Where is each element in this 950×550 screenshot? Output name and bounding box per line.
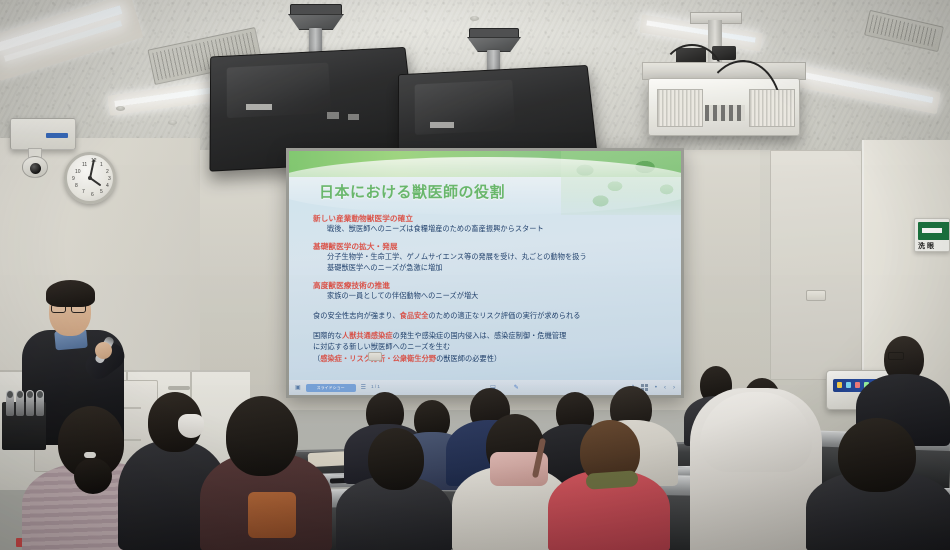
slide-paragraph: に対応する新しい獣医師へのニーズを生む — [313, 342, 673, 353]
slide-text-run: の発生や感染症の国内侵入は、感染症制御・危機管理 — [393, 331, 567, 340]
clock-center-pin — [88, 176, 92, 180]
monitor-label — [246, 104, 272, 110]
sprinkler-head — [168, 120, 177, 125]
slide-title: 日本における獣医師の役割 — [319, 181, 649, 202]
slide-text-run: 食の安全性志向が強まり、 — [313, 311, 400, 320]
page-indicator: 1 / 1 — [371, 385, 380, 390]
projection-screen: 日本における獣医師の役割 新しい産業動物獣医学の確立 戦後、獣医師へのニーズは食… — [286, 148, 684, 398]
slide-text-run: に対応する新しい獣医師へのニーズを生む — [313, 342, 450, 351]
camera-stripe — [46, 133, 68, 138]
wall-clock: 12 1 2 3 4 5 6 7 8 9 10 11 — [64, 152, 116, 204]
more-icon[interactable]: • — [655, 385, 657, 391]
microphone — [16, 390, 24, 416]
slide-section-line: 家族の一員としての伴侶動物へのニーズが増大 — [327, 291, 673, 301]
sign-label: 洗眼 — [918, 241, 936, 251]
slide-text-run: の獣医師の必要性） — [436, 354, 501, 363]
microphone — [36, 390, 44, 416]
presenter-hand — [95, 342, 112, 359]
handbag — [248, 492, 296, 538]
slide-highlight-run: 人獣共通感染症 — [342, 331, 393, 340]
hair-bun — [74, 458, 112, 494]
slide-paragraph: 国際的な人獣共通感染症の発生や感染症の国内侵入は、感染症制御・危機管理 — [313, 331, 673, 342]
sign-pictogram — [922, 228, 942, 233]
menu-icon[interactable]: ☰ — [361, 385, 366, 391]
sprinkler-head — [116, 106, 125, 111]
slide-section-heading: 基礎獣医学の拡大・発展 — [313, 241, 673, 252]
audience-head — [838, 418, 916, 492]
slide-section-line: 戦後、獣医師へのニーズは食糧増産のための畜産振興からスタート — [327, 224, 673, 234]
monitor-label — [430, 122, 454, 128]
slide-text-run: のための適正なリスク評価の実行が求められる — [429, 311, 581, 320]
presenter-hair — [46, 280, 95, 307]
audience-head — [368, 428, 424, 490]
slide-paragraph: （感染症・リスク分析・公衆衛生分野の獣医師の必要性） — [313, 354, 673, 365]
slide-highlight-run: 食品安全 — [400, 311, 429, 320]
wall-socket — [806, 290, 826, 301]
slide-section-heading: 高度獣医療技術の推進 — [313, 280, 673, 291]
right-cabinet — [770, 150, 862, 380]
slide-section-line: 基礎獣医学へのニーズが急激に増加 — [327, 263, 673, 273]
projector-vent-left — [657, 89, 703, 127]
lecture-hall-photo: 12 1 2 3 4 5 6 7 8 9 10 11 — [0, 0, 950, 550]
monitor-port-block — [348, 114, 359, 120]
slide-text-run: 国際的な — [313, 331, 342, 340]
glasses-icon — [888, 352, 904, 360]
next-icon[interactable]: › — [673, 385, 675, 391]
microphone — [26, 390, 34, 416]
cursor-icon[interactable]: ▣ — [295, 385, 301, 391]
sprinkler-head — [470, 16, 479, 21]
eyewash-sign: 洗眼 — [914, 218, 950, 252]
face-mask — [178, 414, 204, 438]
presentation-slide: 日本における獣医師の役割 新しい産業動物獣医学の確立 戦後、獣医師へのニーズは食… — [289, 151, 681, 395]
camera-lens-icon — [30, 163, 41, 174]
slide-paragraph: 食の安全性志向が強まり、食品安全のための適正なリスク評価の実行が求められる — [313, 311, 673, 322]
slide-section-heading: 新しい産業動物獣医学の確立 — [313, 213, 673, 224]
microphone-rack — [2, 402, 46, 450]
audience-head — [226, 396, 298, 476]
wall-socket — [368, 352, 382, 361]
monitor-port-block — [327, 112, 339, 119]
present-button[interactable]: スライドショー — [306, 384, 356, 392]
toolbar-center-group[interactable]: ⬓ ✎ — [380, 385, 629, 391]
prev-icon[interactable]: ‹ — [664, 385, 666, 391]
slide-section-line: 分子生物学・生命工学、ゲノムサイエンス等の発展を受け、丸ごとの動物を扱う — [327, 252, 673, 262]
microphone — [6, 390, 14, 416]
slide-body: 新しい産業動物獣医学の確立 戦後、獣医師へのニーズは食糧増産のための畜産振興から… — [313, 206, 673, 365]
pen-icon[interactable]: ✎ — [514, 385, 519, 391]
toolbar-left-group[interactable]: ▣ スライドショー ☰ 1 / 1 — [289, 384, 380, 392]
hair-clip — [84, 452, 96, 458]
